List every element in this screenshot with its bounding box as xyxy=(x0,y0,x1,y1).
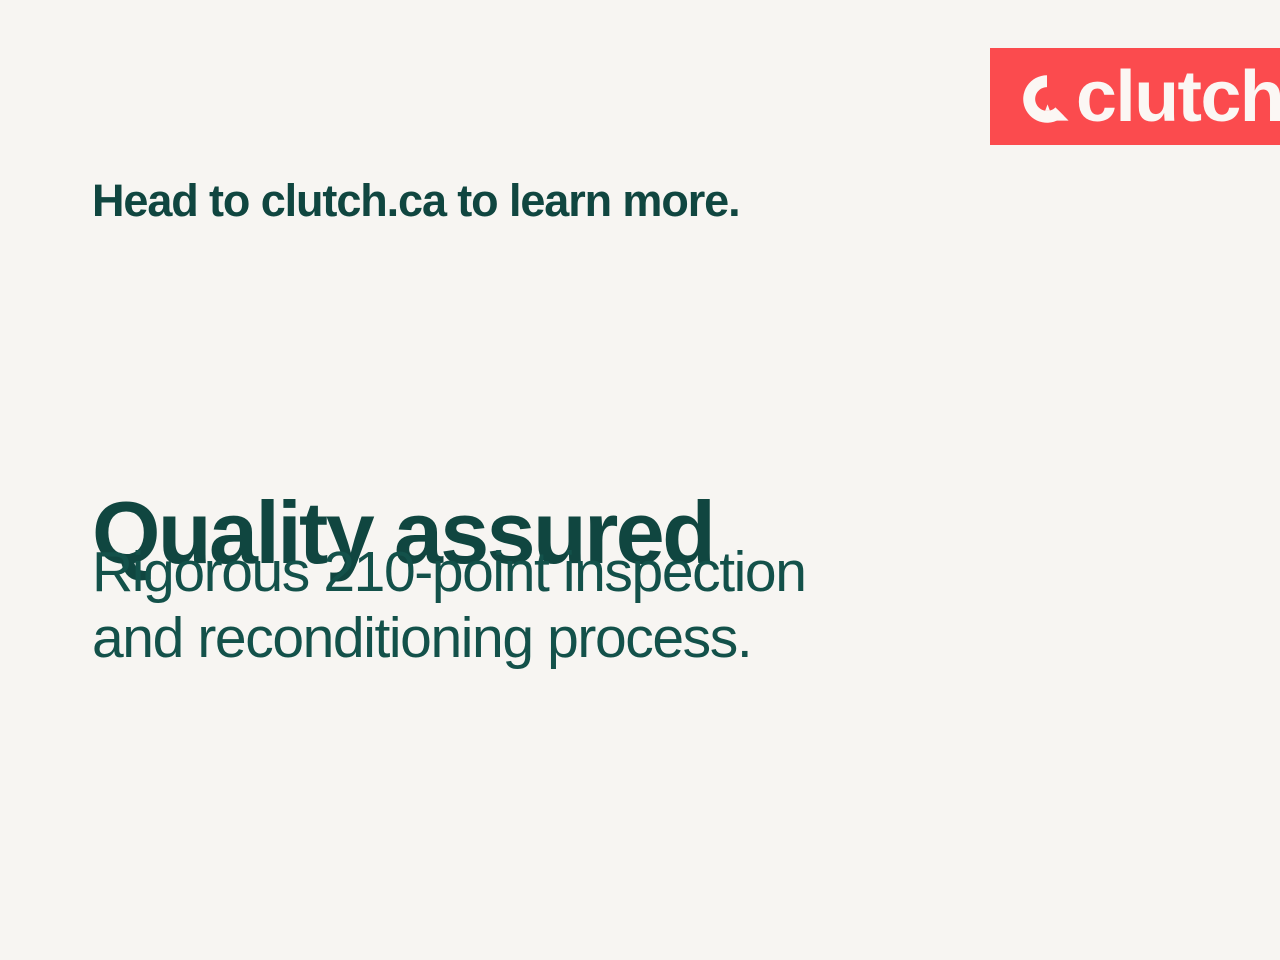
clutch-c-mark-icon xyxy=(1020,72,1074,126)
brand-wordmark: clutch xyxy=(1076,61,1280,133)
slide-canvas: clutch Head to clutch.ca to learn more. … xyxy=(0,0,1280,960)
subcopy-line-2: and reconditioning process. xyxy=(92,606,806,672)
brand-band: clutch xyxy=(990,48,1280,145)
subcopy-block: Rigorous 210-point inspection and recond… xyxy=(92,540,806,671)
subcopy-line-1: Rigorous 210-point inspection xyxy=(92,540,806,606)
eyebrow-text: Head to clutch.ca to learn more. xyxy=(92,176,739,226)
brand-lockup: clutch xyxy=(1020,61,1279,133)
